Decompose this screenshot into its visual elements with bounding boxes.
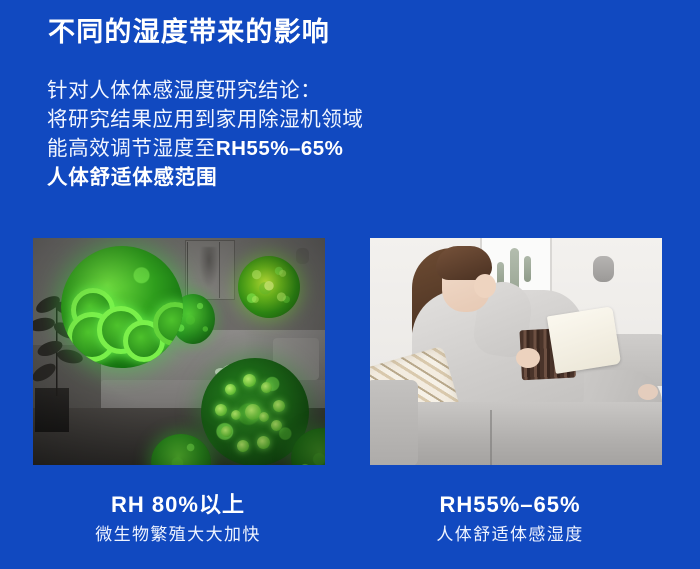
virus-spike bbox=[231, 410, 241, 420]
person-foot bbox=[638, 384, 658, 400]
caption-title: RH55%–65% bbox=[360, 490, 660, 520]
caption-title: RH 80%以上 bbox=[28, 490, 328, 520]
person-hand-on-forehead bbox=[474, 274, 496, 298]
caption-high-humidity: RH 80%以上 微生物繁殖大大加快 bbox=[28, 490, 328, 547]
person-hand-holding-book bbox=[516, 348, 540, 368]
virus-spike bbox=[243, 374, 256, 387]
body-line-4: 人体舒适体感范围 bbox=[47, 163, 467, 192]
panel-comfort-humidity-photo bbox=[370, 238, 662, 465]
virus-spike bbox=[271, 420, 282, 431]
microbe-blob-bottom-left bbox=[151, 434, 211, 465]
bright-room-scene bbox=[370, 238, 662, 465]
virus-spike bbox=[215, 404, 227, 416]
panel-high-humidity-photo bbox=[33, 238, 325, 465]
wall-art-hang-line-right bbox=[219, 242, 220, 298]
microbe-cluster-large bbox=[61, 246, 183, 368]
body-line-2: 将研究结果应用到家用除湿机领域 bbox=[47, 105, 467, 134]
body-line-3: 能高效调节湿度至RH55%–65% bbox=[47, 134, 467, 163]
caption-subtitle: 微生物繁殖大大加快 bbox=[28, 523, 328, 547]
caption-comfort-humidity: RH55%–65% 人体舒适体感湿度 bbox=[360, 490, 660, 547]
dark-room-scene bbox=[33, 238, 325, 465]
virus-spike bbox=[257, 436, 270, 449]
body-line-3-prefix: 能高效调节湿度至 bbox=[47, 137, 216, 160]
virus-spike bbox=[225, 384, 236, 395]
microbe-blob-bottom-right bbox=[291, 428, 325, 465]
caption-subtitle: 人体舒适体感湿度 bbox=[360, 523, 660, 547]
humidity-infographic-poster: 不同的湿度带来的影响 针对人体体感湿度研究结论： 将研究结果应用到家用除湿机领域… bbox=[0, 0, 700, 569]
virus-spike bbox=[273, 400, 285, 412]
book-page bbox=[547, 306, 621, 374]
wall-art-hang-line-left bbox=[187, 242, 188, 298]
virus-spike bbox=[261, 382, 272, 393]
wall-art-frame bbox=[185, 240, 235, 300]
sofa-seat-seam bbox=[490, 410, 492, 465]
wall-speaker-icon bbox=[593, 256, 614, 282]
microbe-blob-bright bbox=[238, 256, 300, 318]
sofa-armrest bbox=[370, 380, 418, 465]
page-title: 不同的湿度带来的影响 bbox=[48, 17, 330, 48]
virus-spike bbox=[259, 412, 269, 422]
body-copy-block: 针对人体体感湿度研究结论： 将研究结果应用到家用除湿机领域 能高效调节湿度至RH… bbox=[47, 76, 467, 192]
comparison-panels bbox=[0, 238, 700, 466]
virus-spike bbox=[221, 426, 232, 437]
body-line-1: 针对人体体感湿度研究结论： bbox=[47, 76, 467, 105]
humidity-range-highlight: RH55%–65% bbox=[216, 137, 344, 160]
virus-spike bbox=[237, 440, 249, 452]
